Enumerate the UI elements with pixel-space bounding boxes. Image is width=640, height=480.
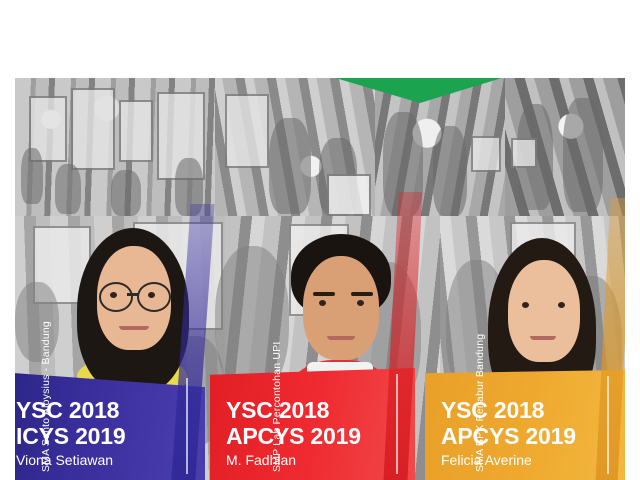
card-school-label: SMA BPK Penabur Bandung — [474, 334, 486, 472]
card-text-block: YSC 2018 ICYS 2019 Viona Setiawan — [16, 397, 125, 470]
crowd-figure — [21, 148, 43, 204]
poster-board — [471, 136, 501, 172]
portrait-eyebrow — [313, 292, 335, 296]
portrait-eye — [357, 300, 364, 306]
portrait-eye — [148, 292, 155, 298]
card-line1: YSC 2018 — [226, 397, 361, 423]
card-text-block: YSC 2018 APCYS 2019 Felicia Averine — [441, 397, 576, 470]
achievement-card-felicia[interactable]: SMA BPK Penabur Bandung YSC 2018 APCYS 2… — [425, 370, 625, 480]
portrait-mouth — [327, 336, 355, 340]
crowd-figure — [111, 170, 141, 216]
achievement-card-viona[interactable]: SMA Santo Aloysius - Bandung YSC 2018 IC… — [0, 372, 205, 480]
poster-board — [225, 94, 269, 168]
display-case — [327, 174, 371, 216]
strip-photo-1 — [15, 78, 215, 216]
achievement-card-fadhlan[interactable]: SMP Lab Percontohan UPI YSC 2018 APCYS 2… — [210, 368, 415, 480]
card-line2: ICYS 2019 — [16, 423, 125, 449]
portrait-eye — [522, 302, 529, 308]
card-student-name: M. Fadhlan — [226, 450, 361, 470]
portrait-eyebrow — [351, 292, 373, 296]
card-text-block: YSC 2018 APCYS 2019 M. Fadhlan — [226, 397, 361, 470]
portrait-eye — [558, 302, 565, 308]
card-line1: YSC 2018 — [16, 397, 125, 423]
poster-canvas: SMA Santo Aloysius - Bandung YSC 2018 IC… — [0, 0, 640, 480]
frame-top — [0, 0, 640, 78]
card-line2: APCYS 2019 — [226, 423, 361, 449]
card-line1: YSC 2018 — [441, 397, 576, 423]
card-line2: APCYS 2019 — [441, 423, 576, 449]
crowd-figure — [269, 118, 311, 214]
crowd-figure — [55, 164, 81, 214]
poster-board — [119, 100, 153, 162]
portrait-mouth — [530, 336, 556, 340]
card-student-name: Felicia Averine — [441, 450, 576, 470]
frame-left — [0, 0, 15, 480]
crowd-figure — [15, 282, 59, 362]
frame-right — [625, 0, 640, 480]
portrait-face — [303, 256, 379, 360]
portrait-face — [508, 260, 580, 362]
portrait-eye — [319, 300, 326, 306]
card-divider-rule — [396, 374, 398, 474]
crowd-figure — [433, 126, 467, 216]
card-school-label: SMA Santo Aloysius - Bandung — [40, 321, 52, 472]
poster-board — [71, 88, 115, 170]
eyeglasses-bridge — [127, 293, 139, 296]
card-student-name: Viona Setiawan — [16, 450, 125, 470]
card-school-label: SMP Lab Percontohan UPI — [271, 342, 283, 472]
name-badge — [511, 138, 537, 168]
card-divider-rule — [607, 376, 609, 474]
crowd-figure — [563, 98, 603, 212]
portrait-mouth — [119, 326, 149, 330]
card-divider-rule — [186, 378, 188, 474]
portrait-eye — [110, 292, 117, 298]
